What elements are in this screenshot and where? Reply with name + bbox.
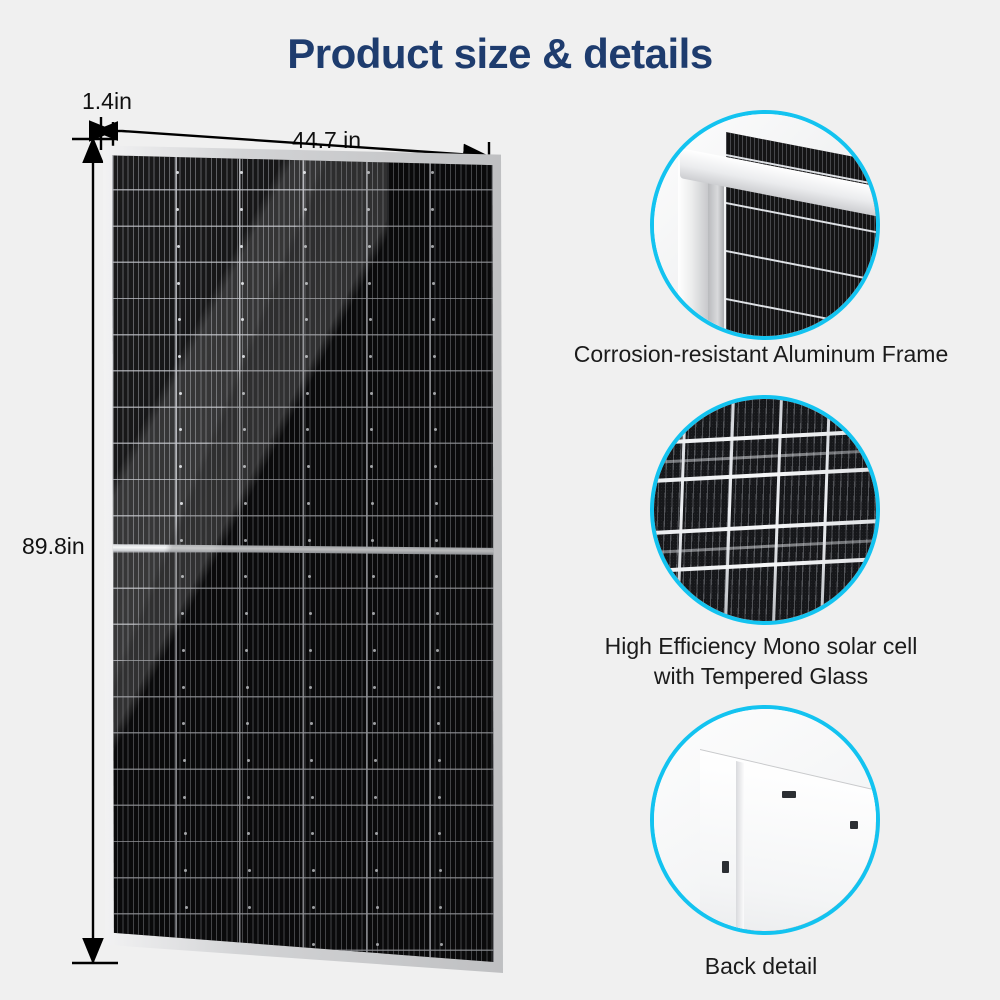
detail-cell-photo (650, 395, 880, 625)
dimension-label-height: 89.8in (22, 533, 85, 560)
detail-cell-caption-line1: High Efficiency Mono solar cell (531, 632, 991, 661)
detail-back-caption: Back detail (531, 952, 991, 981)
page-title: Product size & details (0, 30, 1000, 78)
back-photo-mount-hole (862, 756, 869, 763)
infographic-canvas: Product size & details 1.4in 44.7 in 89.… (0, 0, 1000, 1000)
frame-photo-inner-lip (708, 166, 724, 340)
glass-reflection (112, 153, 387, 841)
back-photo-mount-hole (722, 861, 729, 873)
detail-back-photo (650, 705, 880, 935)
detail-frame-caption: Corrosion-resistant Aluminum Frame (531, 340, 991, 369)
back-photo-mount-hole (850, 821, 858, 829)
frame-photo-side-rail (678, 158, 708, 340)
solar-panel-image (103, 143, 503, 973)
back-photo-frame-edge (736, 761, 744, 935)
dimension-label-thickness: 1.4in (82, 88, 132, 115)
detail-cell-caption-line2: with Tempered Glass (531, 662, 991, 691)
panel-laminate (112, 153, 494, 962)
detail-frame-photo (650, 110, 880, 340)
back-photo-mount-hole (782, 791, 796, 798)
